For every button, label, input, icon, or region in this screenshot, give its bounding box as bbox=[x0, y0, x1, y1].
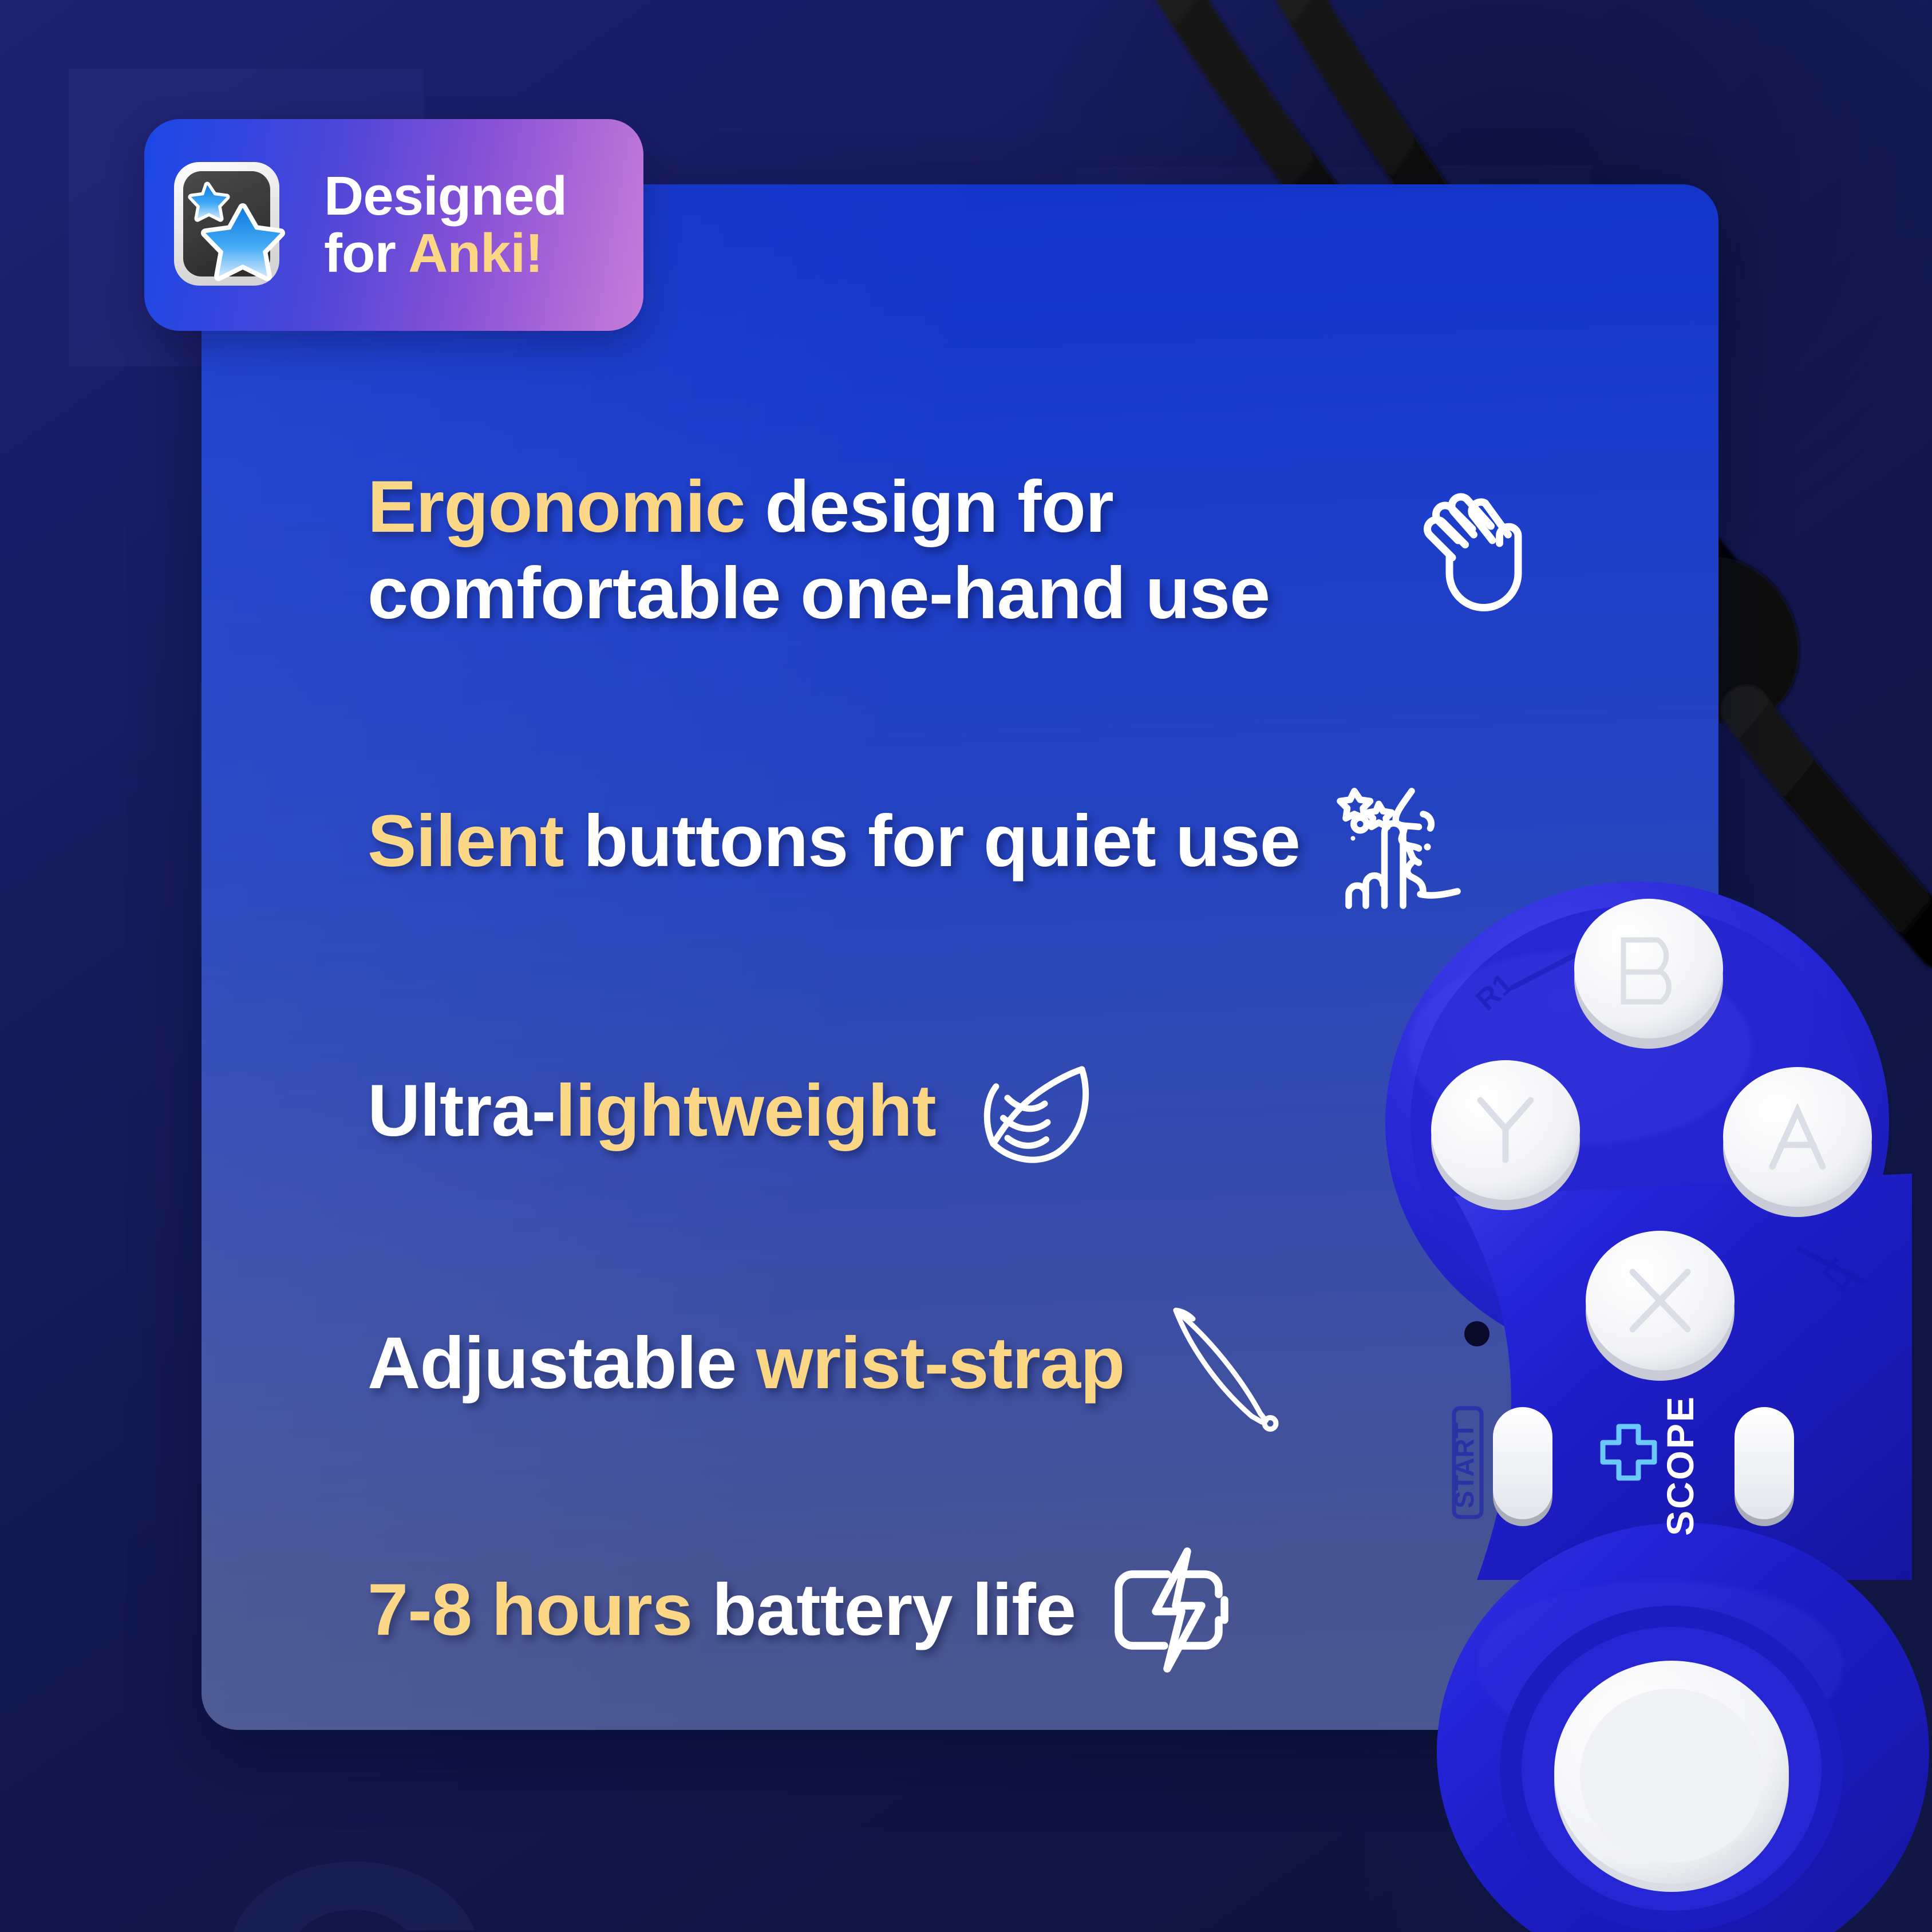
face-button-y[interactable] bbox=[1431, 1060, 1580, 1210]
badge-line2-prefix: for bbox=[324, 223, 408, 284]
scope-gamepad[interactable]: R1 L1 START SCOPE bbox=[1282, 876, 1932, 1932]
feature-text-silent: Silent buttons for quiet use bbox=[368, 798, 1300, 884]
feature-text-battery: 7-8 hours battery life bbox=[368, 1567, 1076, 1653]
hand-palm-icon bbox=[1398, 477, 1541, 623]
feature-prefix: Adjustable bbox=[368, 1322, 756, 1404]
feather-icon bbox=[959, 1038, 1102, 1184]
feature-prefix: Ultra- bbox=[368, 1070, 555, 1152]
feature-text-wrist-strap: Adjustable wrist-strap bbox=[368, 1320, 1124, 1406]
badge-label: Designed for Anki! bbox=[324, 168, 567, 282]
start-engraving: START bbox=[1449, 1408, 1481, 1517]
brand-scope-label: SCOPE bbox=[1659, 1395, 1701, 1536]
feature-highlight: lightweight bbox=[555, 1070, 935, 1152]
feature-rest: buttons for quiet use bbox=[564, 800, 1300, 882]
face-button-a[interactable] bbox=[1723, 1067, 1872, 1217]
feature-highlight: Silent bbox=[368, 800, 564, 882]
joystick-button[interactable] bbox=[1500, 1606, 1843, 1932]
face-button-b[interactable] bbox=[1574, 899, 1723, 1049]
anki-stars-icon bbox=[169, 153, 305, 297]
feature-highlight: wrist-strap bbox=[756, 1322, 1124, 1404]
pill-button-left[interactable] bbox=[1493, 1407, 1552, 1519]
badge-line1: Designed bbox=[324, 165, 567, 227]
feature-rest: battery life bbox=[692, 1569, 1076, 1651]
feature-highlight: Ergonomic bbox=[368, 466, 745, 548]
feature-text-lightweight: Ultra-lightweight bbox=[368, 1068, 936, 1154]
feature-text-ergonomic: Ergonomic design for comfortable one-han… bbox=[368, 464, 1375, 637]
battery-bolt-icon bbox=[1099, 1537, 1242, 1683]
pill-button-right[interactable] bbox=[1735, 1407, 1794, 1519]
feature-highlight: 7-8 hours bbox=[368, 1569, 692, 1651]
start-label: START bbox=[1449, 1423, 1479, 1508]
led-indicator bbox=[1464, 1321, 1490, 1346]
lanyard-strap-icon bbox=[1147, 1290, 1290, 1436]
badge-line2-highlight: Anki! bbox=[408, 223, 543, 284]
feature-row-ergonomic: Ergonomic design for comfortable one-han… bbox=[368, 464, 1656, 637]
designed-for-anki-badge[interactable]: Designed for Anki! bbox=[144, 119, 643, 331]
face-button-x[interactable] bbox=[1586, 1231, 1735, 1381]
